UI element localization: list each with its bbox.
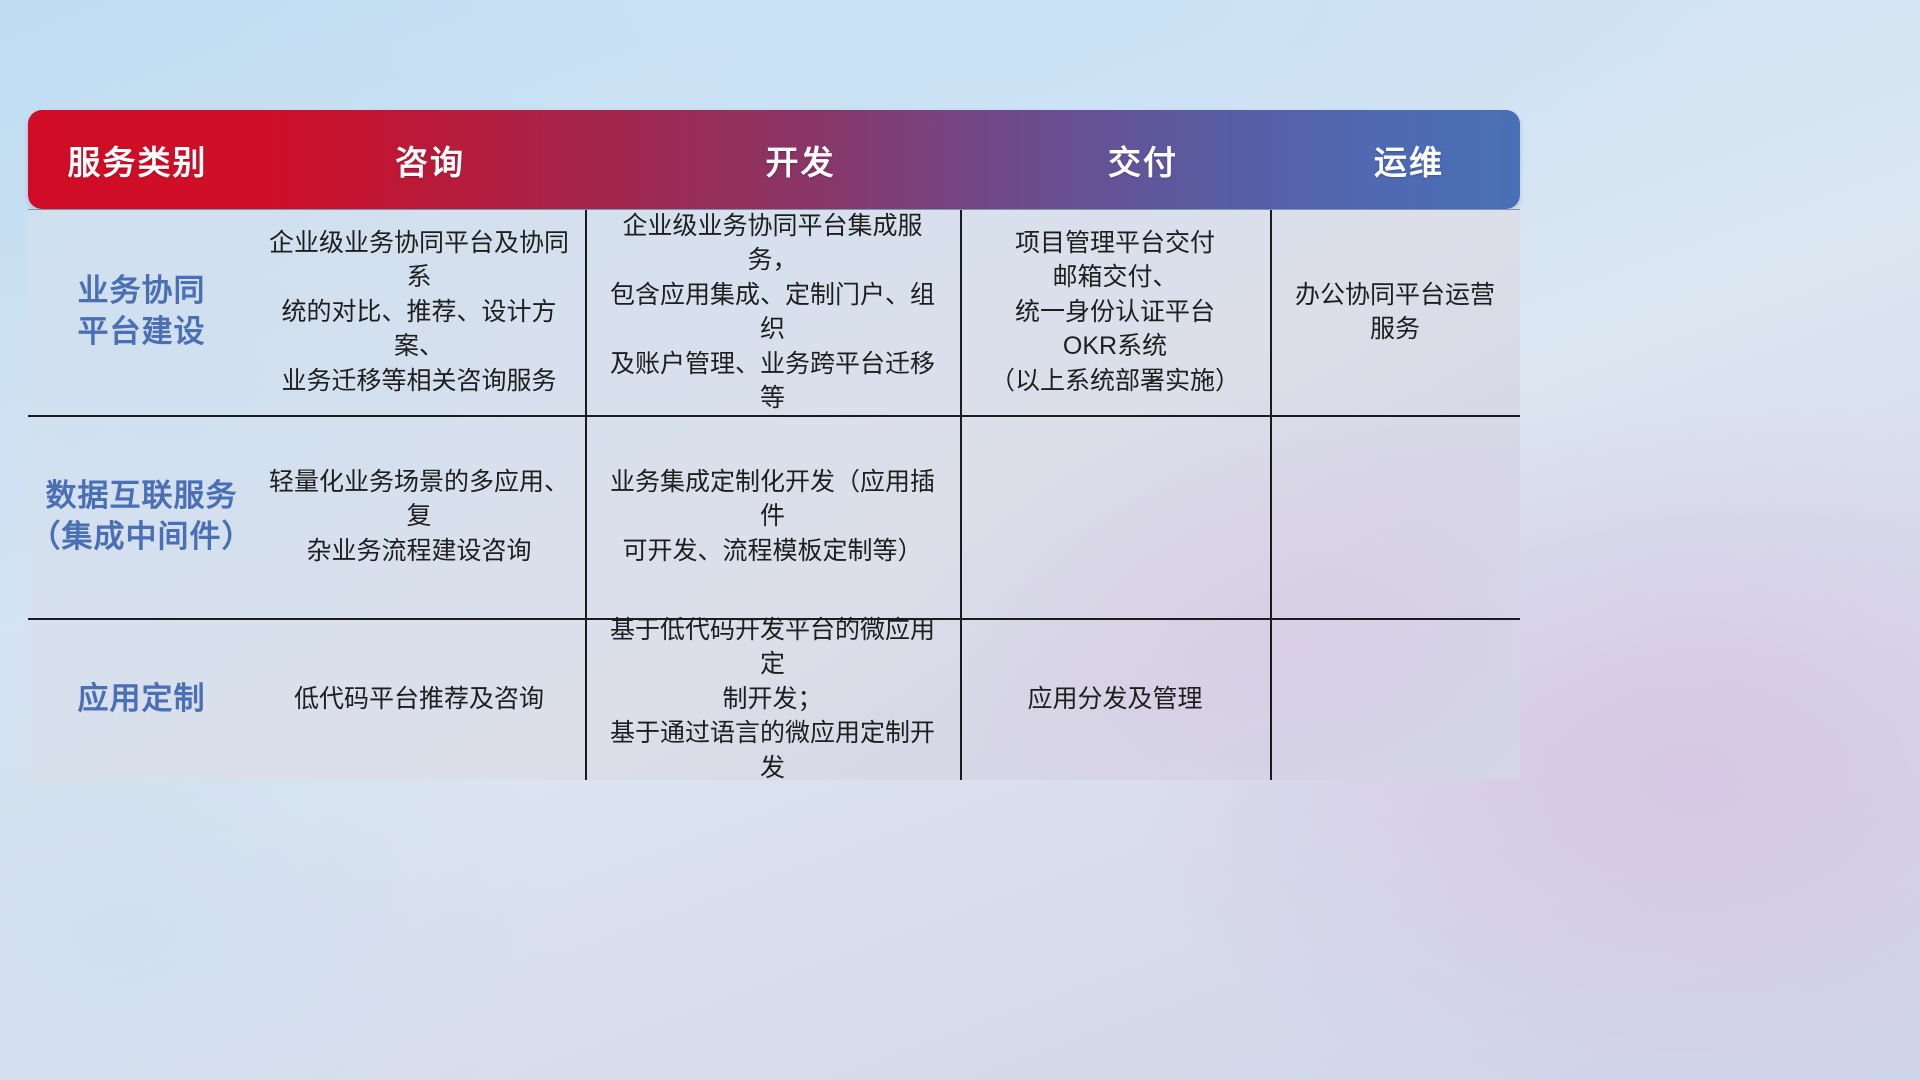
slide-canvas: 服务类别 咨询 开发 交付 运维 业务协同 平台建设 企业级业务协同平台及协同系… xyxy=(0,0,1920,1080)
table-header-cell-consulting: 咨询 xyxy=(247,110,613,209)
table-header-cell-category: 服务类别 xyxy=(28,110,247,209)
cell-row2-operations xyxy=(1270,415,1520,618)
cell-row2-delivery xyxy=(960,415,1270,618)
cell-row2-development: 业务集成定制化开发（应用插件 可开发、流程模板定制等） xyxy=(585,415,960,618)
cell-row3-operations xyxy=(1270,618,1520,780)
cell-row3-delivery: 应用分发及管理 xyxy=(960,618,1270,780)
table-header-cell-delivery: 交付 xyxy=(988,110,1298,209)
table-header-cell-operations: 运维 xyxy=(1298,110,1520,209)
cell-row1-delivery: 项目管理平台交付 邮箱交付、 统一身份认证平台 OKR系统 （以上系统部署实施） xyxy=(960,209,1270,415)
cell-row1-development: 企业级业务协同平台集成服务， 包含应用集成、定制门户、组织 及账户管理、业务跨平… xyxy=(585,209,960,415)
cell-row3-development: 基于低代码开发平台的微应用定 制开发； 基于通过语言的微应用定制开发 xyxy=(585,618,960,780)
table-header-bar: 服务类别 咨询 开发 交付 运维 xyxy=(28,110,1520,209)
row-category-label-2: 数据互联服务 （集成中间件） xyxy=(30,476,254,558)
service-matrix-table: 服务类别 咨询 开发 交付 运维 业务协同 平台建设 企业级业务协同平台及协同系… xyxy=(28,110,1520,780)
table-header-cell-development: 开发 xyxy=(613,110,988,209)
cell-row2-consulting: 轻量化业务场景的多应用、复 杂业务流程建设咨询 xyxy=(253,415,585,618)
cell-row3-consulting: 低代码平台推荐及咨询 xyxy=(253,618,585,780)
cell-row1-consulting: 企业级业务协同平台及协同系 统的对比、推荐、设计方案、 业务迁移等相关咨询服务 xyxy=(253,209,585,415)
row-category-label-3: 应用定制 xyxy=(78,679,206,720)
cell-row1-operations: 办公协同平台运营服务 xyxy=(1270,209,1520,415)
table-body-panel: 业务协同 平台建设 企业级业务协同平台及协同系 统的对比、推荐、设计方案、 业务… xyxy=(28,209,1520,780)
row-category-label-1: 业务协同 平台建设 xyxy=(78,271,206,353)
